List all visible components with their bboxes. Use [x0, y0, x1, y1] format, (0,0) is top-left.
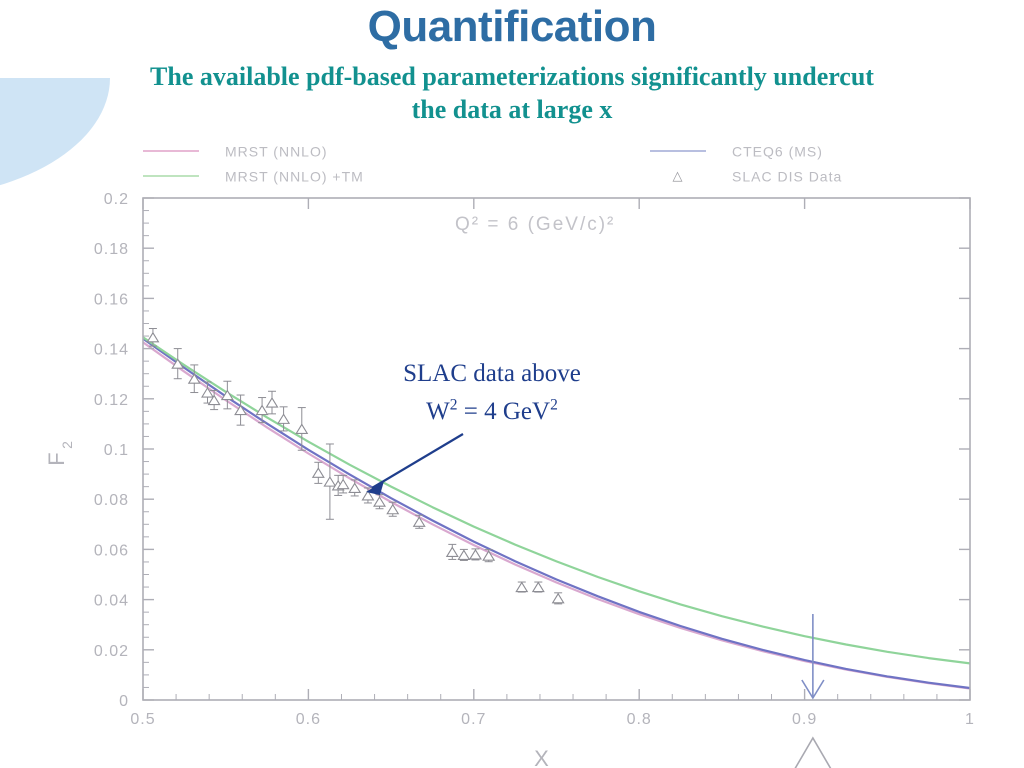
triangle-marker-icon [447, 547, 458, 556]
plot-frame [143, 198, 970, 700]
y-tick-label: 0.18 [94, 241, 129, 258]
annotation-line-1: SLAC data above [403, 360, 581, 387]
triangle-marker-icon [257, 406, 268, 415]
annotation-arrow-shaft [372, 434, 463, 488]
y-tick-label: 0.1 [104, 442, 129, 459]
slac-annotation: SLAC data above W2 = 4 GeV2 [352, 358, 632, 428]
chart-figure: MRST (NNLO) CTEQ6 (MS) MRST (NNLO) +TM △… [0, 136, 1024, 768]
q2-annotation: Q² = 6 (GeV/c)² [455, 214, 615, 236]
data-point [447, 544, 458, 559]
triangle-marker-icon [516, 583, 527, 592]
data-point [553, 593, 564, 604]
triangle-marker-icon [278, 414, 289, 423]
annotation-line-2: W2 = 4 GeV2 [426, 398, 558, 425]
triangle-marker-icon [349, 483, 360, 492]
x-tick-label: 0.9 [792, 711, 817, 728]
y-tick-label: 0.16 [94, 291, 129, 308]
annotation-arrow [366, 434, 463, 495]
y-tick-label: 0.2 [104, 191, 129, 208]
x-axis-label: X [534, 746, 549, 768]
triangle-marker-icon [267, 398, 278, 407]
triangle-marker-icon [147, 333, 158, 342]
y-tick-label: 0.06 [94, 542, 129, 559]
triangle-marker-icon [483, 551, 494, 560]
data-point [267, 391, 278, 414]
data-point [470, 549, 481, 560]
y-axis-label: F2 [44, 441, 75, 466]
triangle-marker-icon [296, 424, 307, 433]
y-tick-label: 0 [119, 693, 129, 710]
x-tick-label: 0.5 [130, 711, 155, 728]
triangle-marker-icon [313, 468, 324, 477]
data-point [414, 515, 425, 528]
x-tick-label: 0.8 [627, 711, 652, 728]
x-tick-label: 1 [965, 711, 975, 728]
svg-text:2: 2 [59, 441, 75, 449]
triangle-marker-icon [553, 594, 564, 603]
svg-text:F: F [44, 452, 69, 465]
data-point [533, 582, 544, 592]
triangle-marker-icon [458, 550, 469, 559]
page-subtitle: The available pdf-based parameterization… [0, 60, 1024, 126]
x-tick-label: 0.6 [296, 711, 321, 728]
y-tick-label: 0.12 [94, 392, 129, 409]
y-tick-label: 0.14 [94, 342, 129, 359]
data-point [458, 549, 469, 560]
triangle-marker-icon [324, 477, 335, 486]
data-point [313, 462, 324, 483]
data-point [278, 407, 289, 431]
subtitle-line-2: the data at large x [412, 95, 613, 124]
y-tick-label: 0.04 [94, 593, 129, 610]
page-title: Quantification [0, 2, 1024, 52]
data-point [516, 582, 527, 592]
subtitle-line-1: The available pdf-based parameterization… [150, 62, 874, 91]
y-tick-label: 0.02 [94, 643, 129, 660]
triangle-marker-icon [470, 550, 481, 559]
x-tick-label: 0.7 [461, 711, 486, 728]
large-triangle-marker-icon [792, 738, 834, 768]
y-tick-label: 0.08 [94, 492, 129, 509]
triangle-marker-icon [533, 583, 544, 592]
